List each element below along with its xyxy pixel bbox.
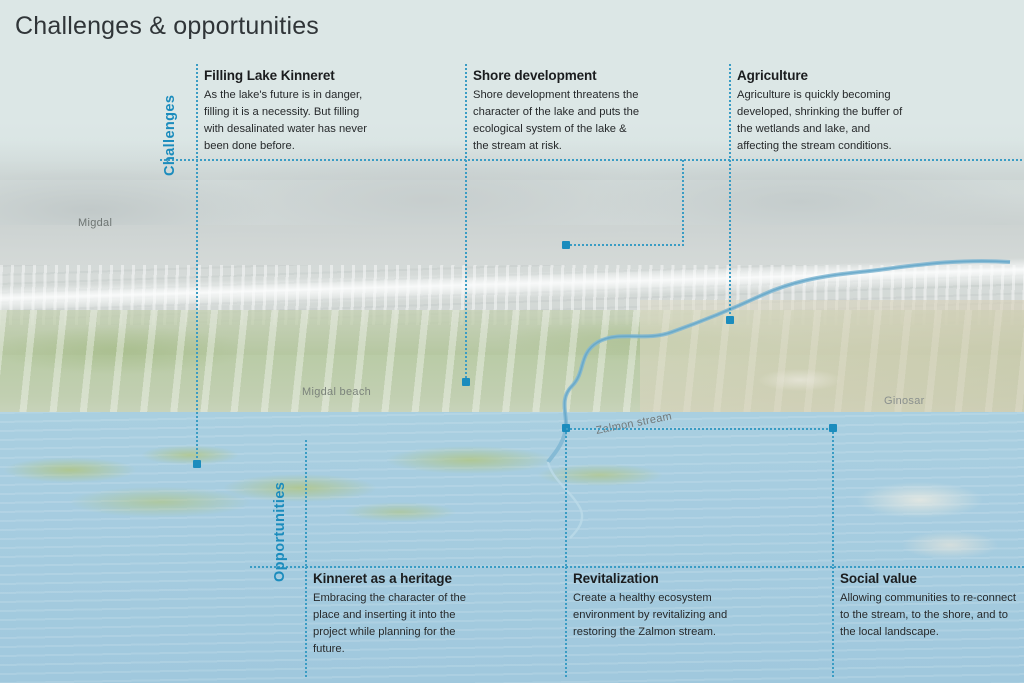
challenge-2-elbow-horizontal — [566, 244, 684, 246]
opportunity-3-card-rule — [832, 567, 834, 679]
opportunity-1-leader-line — [305, 440, 307, 566]
map-label-ginosar: Ginosar — [884, 395, 925, 407]
opportunity-3-map-marker — [829, 424, 837, 432]
opportunity-1-body: Embracing the character of the place and… — [313, 590, 485, 658]
page-title: Challenges & opportunities — [15, 12, 319, 41]
map-label-migdal: Migdal — [78, 217, 112, 229]
opportunity-card-kinneret-as-a-heritage: Kinneret as a heritage Embracing the cha… — [313, 571, 485, 658]
challenge-1-card-rule — [196, 64, 198, 160]
map-label-migdal-beach: Migdal beach — [302, 386, 371, 398]
opportunity-1-title: Kinneret as a heritage — [313, 571, 485, 587]
challenge-2-leader-line — [465, 160, 467, 382]
challenge-3-map-marker — [726, 316, 734, 324]
challenge-card-agriculture: Agriculture Agriculture is quickly becom… — [737, 68, 909, 155]
challenge-3-leader-line — [729, 160, 731, 320]
challenge-2-map-marker-secondary — [562, 241, 570, 249]
opportunity-3-leader-line — [832, 428, 834, 566]
challenge-2-elbow-vertical — [682, 160, 684, 246]
challenge-2-map-marker — [462, 378, 470, 386]
challenge-3-body: Agriculture is quickly becoming develope… — [737, 87, 909, 155]
challenge-1-title: Filling Lake Kinneret — [204, 68, 376, 84]
opportunity-card-revitalization: Revitalization Create a healthy ecosyste… — [573, 571, 745, 641]
challenge-card-filling-lake-kinneret: Filling Lake Kinneret As the lake's futu… — [204, 68, 376, 155]
challenge-3-title: Agriculture — [737, 68, 909, 84]
opportunity-cross-link — [566, 428, 832, 430]
challenges-baseline — [160, 159, 1024, 161]
opportunity-1-card-rule — [305, 567, 307, 679]
opportunity-2-card-rule — [565, 567, 567, 679]
challenge-1-leader-line — [196, 160, 198, 466]
opportunity-2-leader-line — [565, 428, 567, 566]
section-label-opportunities: Opportunities — [272, 482, 288, 582]
section-label-challenges: Challenges — [162, 95, 178, 176]
opportunity-card-social-value: Social value Allowing communities to re-… — [840, 571, 1016, 641]
challenge-1-body: As the lake's future is in danger, filli… — [204, 87, 376, 155]
challenge-3-card-rule — [729, 64, 731, 160]
opportunity-3-body: Allowing communities to re-connect to th… — [840, 590, 1016, 641]
challenge-2-title: Shore development — [473, 68, 645, 84]
poster-canvas: Migdal Migdal beach Zalmon stream Ginosa… — [0, 0, 1024, 683]
opportunity-2-title: Revitalization — [573, 571, 745, 587]
opportunity-2-body: Create a healthy ecosystem environment b… — [573, 590, 745, 641]
challenge-card-shore-development: Shore development Shore development thre… — [473, 68, 645, 155]
challenge-2-card-rule — [465, 64, 467, 160]
opportunities-baseline — [250, 566, 1024, 568]
challenge-2-body: Shore development threatens the characte… — [473, 87, 645, 155]
opportunity-3-title: Social value — [840, 571, 1016, 587]
challenge-1-map-marker — [193, 460, 201, 468]
